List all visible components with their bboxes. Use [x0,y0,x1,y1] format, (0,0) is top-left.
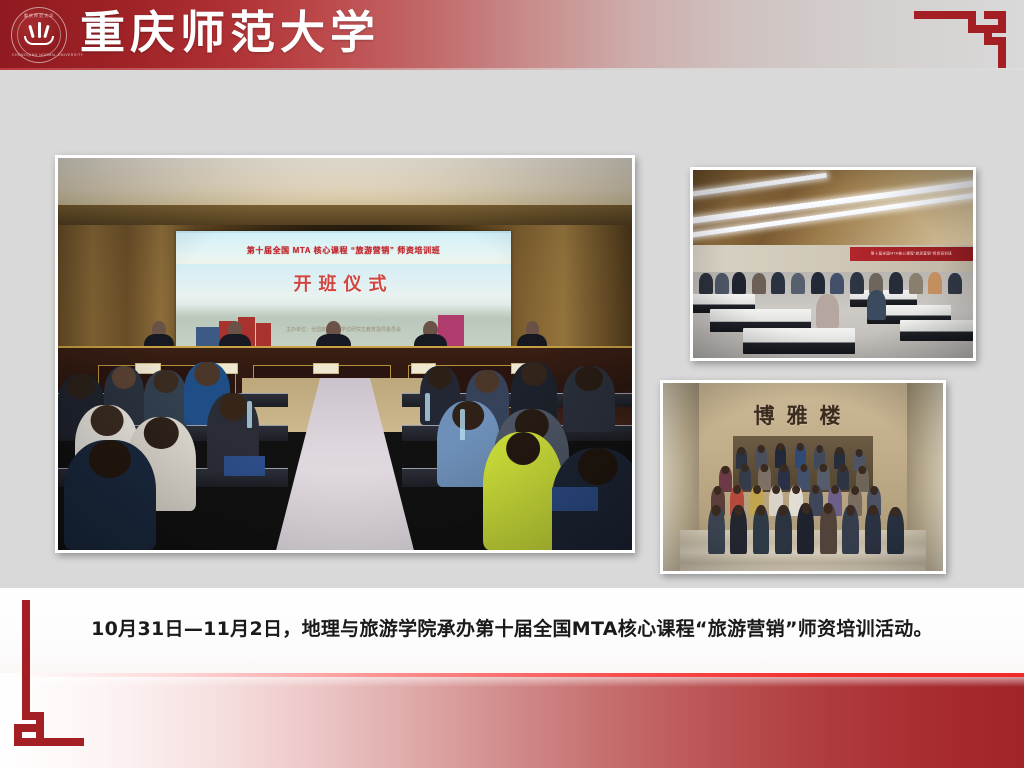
seal-top-text: 重庆师范大学 [12,13,66,19]
chinese-corner-ornament-icon-top-right [906,5,1014,68]
led-screen-title: 第十届全国 MTA 核心课程 “旅游营销” 师资培训班 [176,245,512,256]
university-seal-icon: 重庆师范大学 CHONGQING NORMAL UNIVERSITY [11,7,67,63]
audience-person [64,440,156,550]
page-header: 重庆师范大学 CHONGQING NORMAL UNIVERSITY 重庆师范大… [0,0,1024,68]
caption-text: 10月31日—11月2日，地理与旅游学院承办第十届全国MTA核心课程“旅游营销”… [0,614,1024,641]
lecture-hall-photo: 第十届全国MTA核心课程“旅游营销”师资培训班 [690,167,976,361]
university-name: 重庆师范大学 [80,4,380,62]
laptop [224,456,264,476]
water-bottle [460,409,465,440]
audience-person [563,366,615,433]
group-photo: 博雅楼 [660,380,946,574]
seal-bottom-text: CHONGQING NORMAL UNIVERSITY [12,53,66,57]
water-bottle [247,401,252,428]
footer-band [0,677,1024,768]
header-divider [0,68,1024,70]
opening-ceremony-photo: 第十届全国 MTA 核心课程 “旅游营销” 师资培训班 开班仪式 主办单位：全国… [55,155,635,553]
led-screen-subtitle: 开班仪式 [176,270,512,296]
laptop [552,487,598,511]
water-bottle [425,393,430,420]
flame-book-emblem-icon [24,21,54,47]
chinese-corner-ornament-icon-bottom-left [8,600,118,755]
footer-band-highlight [0,677,1024,687]
